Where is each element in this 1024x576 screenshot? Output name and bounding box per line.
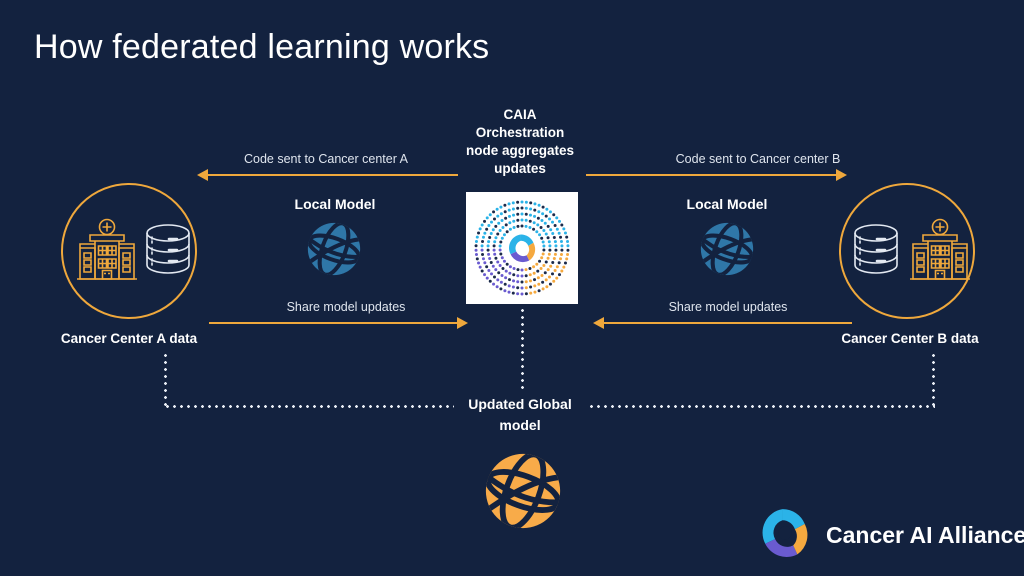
database-icon [143,223,193,286]
globe-icon [696,218,758,285]
arrow-label-code-to-b: Code sent to Cancer center B [632,152,884,166]
cancer-center-b-label: Cancer Center B data [820,330,1000,348]
page-title: How federated learning works [34,28,489,67]
dotted-connector-right-vertical [932,352,935,407]
dotted-connector-center [521,307,524,391]
cancer-center-a-label: Cancer Center A data [39,330,219,348]
arrow-head-right-icon [836,169,847,181]
arrow-head-left-icon [593,317,604,329]
arrow-label-code-to-a: Code sent to Cancer center A [200,152,452,166]
arrow-label-updates-from-b: Share model updates [622,300,834,314]
globe-icon [479,447,567,540]
dotted-connector-right-horizontal [588,405,935,408]
dotted-connector-left-vertical [164,352,167,407]
hospital-icon [905,218,975,291]
arrow-label-updates-from-a: Share model updates [240,300,452,314]
dotted-connector-left-horizontal [164,405,454,408]
globe-icon [303,218,365,285]
updated-global-model-label: Updated Global model [443,394,597,436]
slide-canvas: How federated learning works CAIA Orches… [0,0,1024,576]
arrow-head-left-icon [197,169,208,181]
brand-name: Cancer AI Alliance [826,522,1024,549]
local-model-right-label: Local Model [664,195,790,213]
caia-orchestration-node-icon [466,192,578,304]
local-model-left-label: Local Model [272,195,398,213]
hospital-icon [72,218,142,291]
arrow-head-right-icon [457,317,468,329]
database-icon [851,223,901,286]
caia-node-caption: CAIA Orchestration node aggregates updat… [443,106,597,178]
brand-lockup: Cancer AI Alliance [757,505,1024,566]
caia-swirl-logo-icon [757,505,813,566]
